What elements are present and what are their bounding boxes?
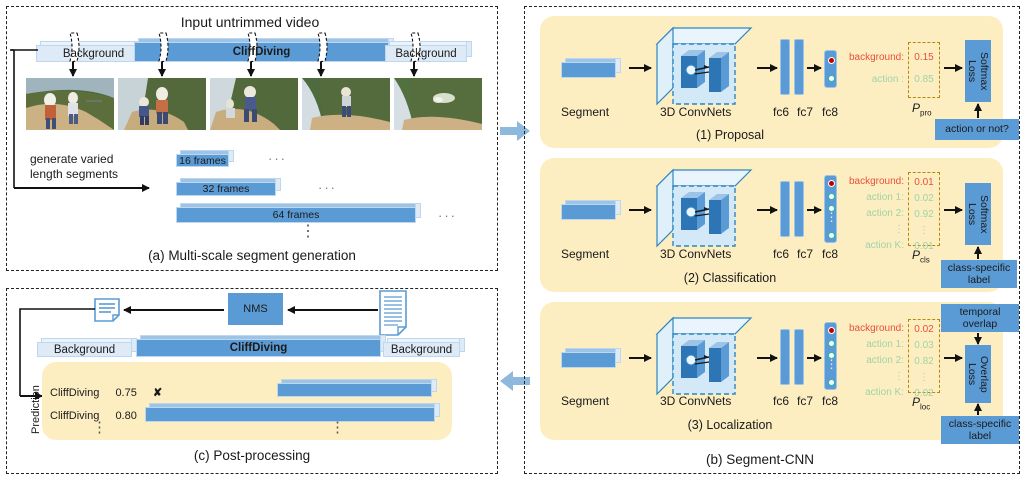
stage1-prob-symbol-p: P xyxy=(912,101,920,115)
stage3-prob-value-2: 0.82 xyxy=(909,357,939,367)
segment-vertical-ellipsis: ⋮ xyxy=(300,228,314,237)
stage3-prob-name-0: background: xyxy=(838,324,904,334)
stage1-arrow-conv-to-fc6 xyxy=(757,67,777,69)
stage3-prob-name-3: ⋮ xyxy=(838,372,904,382)
stage1-caption: (1) Proposal xyxy=(620,128,840,142)
timeline-a-segment-2: Background xyxy=(385,41,472,62)
generate-segments-arrow xyxy=(14,187,149,189)
stage1-arrow-prob-to-loss xyxy=(944,67,962,69)
stage3-segment-bar xyxy=(561,348,621,368)
stage2-fc6-slab xyxy=(780,181,790,237)
stage3-fc8-dot-action-k xyxy=(828,379,835,386)
stage1-fc8-dot-action xyxy=(828,75,835,82)
stage2-prob-values: 0.01 0.02 0.92 ⋮ 0.01 xyxy=(908,172,940,246)
stage2-fc6-label: fc6 xyxy=(773,247,789,261)
stage1-convnets-label: 3D ConvNets xyxy=(660,105,731,119)
segment-bar-32: 32 frames xyxy=(176,178,281,196)
stage2-prob-name-0: background: xyxy=(838,177,904,187)
stage2-prob-value-0: 0.01 xyxy=(909,178,939,188)
timeline-a-segment-1: CliffDiving xyxy=(134,38,394,62)
stage3-fc8-dot-action-1 xyxy=(828,340,835,347)
segment-bar-64-label: 64 frames xyxy=(176,207,416,223)
stage1-segment-bar xyxy=(561,58,621,78)
timeline-c-segment-2-label: Background xyxy=(383,342,460,357)
stage1-prob-name-0: background: xyxy=(838,53,904,63)
stage3-prob-name-1: action 1: xyxy=(838,340,904,350)
video-thumbnail-4 xyxy=(394,78,482,130)
stage3-prob-name-4: action K: xyxy=(838,388,904,398)
prediction-row-1-score: 0.80 xyxy=(115,410,136,422)
generate-elbow-connector xyxy=(0,40,200,190)
stage3-prob-symbol: Ploc xyxy=(912,395,930,411)
stage2-prob-name-4: action K: xyxy=(838,241,904,251)
stage3-arrow-prob-to-loss xyxy=(944,357,962,359)
stage3-fc8-ellipsis: ⋮ xyxy=(825,361,838,368)
stage1-supervision-arrow xyxy=(977,104,979,118)
segment-bar-16-label: 16 frames xyxy=(176,154,229,167)
stage2-loss-box: Softmax Loss xyxy=(965,183,991,245)
bar-front-face xyxy=(277,383,432,397)
segment-ellipsis-64: ··· xyxy=(438,208,457,223)
stage2-prob-value-3: ⋮ xyxy=(909,226,939,236)
stage2-prob-name-2: action 2: xyxy=(838,209,904,219)
stage1-loss-box: Softmax Loss xyxy=(965,40,991,102)
candidate-segments-doc-icon xyxy=(377,289,409,337)
stage3-fc8-strip: ⋮ xyxy=(824,322,837,390)
stage1-prob-symbol: Ppro xyxy=(912,101,932,117)
bar-front-face xyxy=(561,352,616,368)
stage3-prob-symbol-p: P xyxy=(912,395,920,409)
stage2-segment-label: Segment xyxy=(561,247,609,261)
stage3-loss-box: Overlap Loss xyxy=(965,345,991,403)
stage2-prob-symbol: Pcls xyxy=(912,248,930,264)
stage2-prob-value-1: 0.02 xyxy=(909,194,939,204)
stage1-fc8-dot-background xyxy=(828,57,835,64)
prediction-row-0: CliffDiving 0.75 ✘ xyxy=(50,386,162,399)
stage3-segment-label: Segment xyxy=(561,394,609,408)
stage3-prob-names: background: action 1: action 2: ⋮ action… xyxy=(838,324,904,398)
stage2-fc8-ellipsis: ⋮ xyxy=(825,214,838,221)
stage1-prob-value-0: 0.15 xyxy=(909,53,939,63)
stage2-3d-convnets-cube xyxy=(655,168,753,248)
stage3-temporal-overlap-box: temporal overlap xyxy=(941,304,1019,332)
stage2-prob-value-2: 0.92 xyxy=(909,210,939,220)
docs-to-nms-arrow xyxy=(288,309,378,311)
stage2-fc8-label: fc8 xyxy=(822,247,838,261)
stage1-prob-value-1: 0.85 xyxy=(909,75,939,85)
stage2-convnets-label: 3D ConvNets xyxy=(660,247,731,261)
stage3-temporal-overlap-arrow xyxy=(977,333,979,344)
frame-arrow-2 xyxy=(250,62,252,76)
timeline-c-segment-0-label: Background xyxy=(37,342,132,357)
prediction-bar-1 xyxy=(145,403,440,422)
stage3-arrow-conv-to-fc6 xyxy=(757,357,777,359)
frame-arrow-3 xyxy=(320,62,322,76)
stage3-arrow-segment-to-conv xyxy=(629,357,651,359)
stage2-segment-bar xyxy=(561,200,621,220)
stage3-supervision-box: class-specific label xyxy=(941,416,1019,444)
stage3-fc7-slab xyxy=(794,329,804,385)
stage2-prob-symbol-p: P xyxy=(912,248,920,262)
segment-bar-64: 64 frames xyxy=(176,203,421,223)
stage2-prob-name-1: action 1: xyxy=(838,193,904,203)
stage2-caption: (2) Classification xyxy=(620,271,840,285)
stage1-fc6-slab xyxy=(780,39,790,95)
stage2-supervision-arrow xyxy=(977,247,979,259)
stage1-supervision-box: action or not? xyxy=(935,119,1019,140)
segment-bar-32-label: 32 frames xyxy=(176,182,276,196)
stage2-fc8-dot-action-1 xyxy=(828,193,835,200)
stage3-fc6-label: fc6 xyxy=(773,394,789,408)
segment-bar-16: 16 frames xyxy=(176,150,234,167)
stage2-prob-subscript: cls xyxy=(920,255,930,264)
panel-b-caption: (b) Segment-CNN xyxy=(640,452,880,467)
bar-front-face xyxy=(561,62,616,78)
stage1-fc7-label: fc7 xyxy=(797,105,813,119)
stage3-prob-value-3: ⋮ xyxy=(909,373,939,383)
prediction-ellipsis-right: ⋮ xyxy=(330,424,344,432)
stage1-fc8-strip xyxy=(824,50,837,88)
panel-a-video-title: Input untrimmed video xyxy=(100,14,400,30)
stage1-arrow-segment-to-conv xyxy=(629,67,651,69)
bar-front-face xyxy=(145,407,435,422)
stage2-prob-names: background: action 1: action 2: ⋮ action… xyxy=(838,177,904,251)
video-thumbnail-3 xyxy=(302,78,390,130)
stage1-prob-subscript: pro xyxy=(920,108,932,117)
stage2-fc8-dot-background xyxy=(828,180,835,187)
stage3-fc8-dot-background xyxy=(828,327,835,334)
stage3-fc6-slab xyxy=(780,329,790,385)
timeline-a-segment-1-label: CliffDiving xyxy=(134,42,389,62)
stage1-prob-values: 0.15 0.85 xyxy=(908,42,940,98)
video-thumbnail-2 xyxy=(210,78,298,130)
segment-ellipsis-16: ··· xyxy=(268,151,287,166)
stage1-arrow-fc7-to-fc8 xyxy=(807,67,821,69)
prediction-row-0-score: 0.75 xyxy=(115,387,136,399)
stage3-arrow-fc7-to-fc8 xyxy=(807,357,821,359)
bar-front-face xyxy=(561,204,616,220)
timeline-c-segment-0: Background xyxy=(37,338,137,357)
stage1-fc6-label: fc6 xyxy=(773,105,789,119)
stage2-arrow-fc7-to-fc8 xyxy=(807,209,821,211)
stage2-fc7-slab xyxy=(794,181,804,237)
stage1-prob-name-1: action : xyxy=(838,75,904,85)
timeline-c-segment-1-label: CliffDiving xyxy=(136,339,381,357)
stage2-fc8-strip: ⋮ xyxy=(824,175,837,243)
stage1-fc8-label: fc8 xyxy=(822,105,838,119)
stage3-prob-value-0: 0.02 xyxy=(909,325,939,335)
nms-box: NMS xyxy=(228,293,283,325)
stage1-3d-convnets-cube xyxy=(655,26,753,106)
stage2-fc8-dot-action-k xyxy=(828,232,835,239)
stage3-supervision-arrow xyxy=(977,404,979,415)
stage3-prob-values: 0.02 0.03 0.82 ⋮ 0.02 xyxy=(908,319,940,393)
stage2-prob-name-3: ⋮ xyxy=(838,225,904,235)
stage3-convnets-label: 3D ConvNets xyxy=(660,394,731,408)
stage1-segment-label: Segment xyxy=(561,105,609,119)
stage2-arrow-prob-to-loss xyxy=(944,209,962,211)
panel-c-caption: (c) Post-processing xyxy=(102,448,402,463)
stage3-prob-value-1: 0.03 xyxy=(909,341,939,351)
timeline-a-segment-2-label: Background xyxy=(385,45,467,62)
stage2-supervision-box: class-specific label xyxy=(941,260,1017,288)
stage3-fc8-label: fc8 xyxy=(822,394,838,408)
prediction-row-0-class: CliffDiving xyxy=(50,387,99,399)
stage2-arrow-conv-to-fc6 xyxy=(757,209,777,211)
segment-ellipsis-32: ··· xyxy=(318,180,337,195)
frame-arrow-4 xyxy=(413,62,415,76)
stage2-arrow-segment-to-conv xyxy=(629,209,651,211)
prediction-row-0-mark: ✘ xyxy=(153,387,162,399)
nms-to-doc-arrow xyxy=(124,309,224,311)
prediction-bar-0 xyxy=(277,379,437,397)
stage2-fc7-label: fc7 xyxy=(797,247,813,261)
timeline-c-segment-2: Background xyxy=(383,338,465,357)
panel-a-caption: (a) Multi-scale segment generation xyxy=(102,248,402,263)
prediction-ellipsis-left: ⋮ xyxy=(92,424,106,432)
figure-root: Input untrimmed video Background CliffDi… xyxy=(0,0,1027,480)
stage3-prob-subscript: loc xyxy=(920,402,930,411)
prediction-axis-label: Prediction xyxy=(30,372,42,434)
stage3-3d-convnets-cube xyxy=(655,316,753,396)
stage3-prob-name-2: action 2: xyxy=(838,356,904,366)
stage1-prob-names: background: action : xyxy=(838,53,904,85)
stage3-caption: (3) Localization xyxy=(620,418,840,432)
stage1-fc7-slab xyxy=(794,39,804,95)
stage3-fc7-label: fc7 xyxy=(797,394,813,408)
timeline-c-segment-1: CliffDiving xyxy=(136,335,386,357)
